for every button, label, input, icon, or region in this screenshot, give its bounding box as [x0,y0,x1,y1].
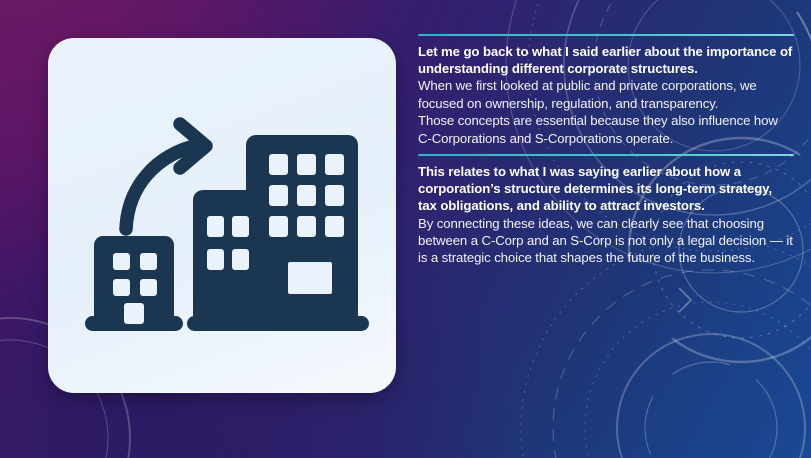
section-divider-2 [418,154,794,156]
narration-column: Let me go back to what I said earlier ab… [418,34,794,274]
slide-canvas: Let me go back to what I said earlier ab… [0,0,811,458]
narration-body-2: By connecting these ideas, we can clearl… [418,215,794,267]
narration-block-1: Let me go back to what I said earlier ab… [418,34,794,147]
narration-body-1: When we first looked at public and priva… [418,77,794,147]
large-building-icon [187,135,369,331]
section-divider-1 [418,34,794,36]
small-building-icon [85,236,183,331]
illustration-card [48,38,396,393]
corporate-growth-illustration-icon [48,38,396,393]
narration-lead-2: This relates to what I was saying earlie… [418,163,794,215]
narration-block-2: This relates to what I was saying earlie… [418,154,794,267]
narration-lead-1: Let me go back to what I said earlier ab… [418,43,794,77]
